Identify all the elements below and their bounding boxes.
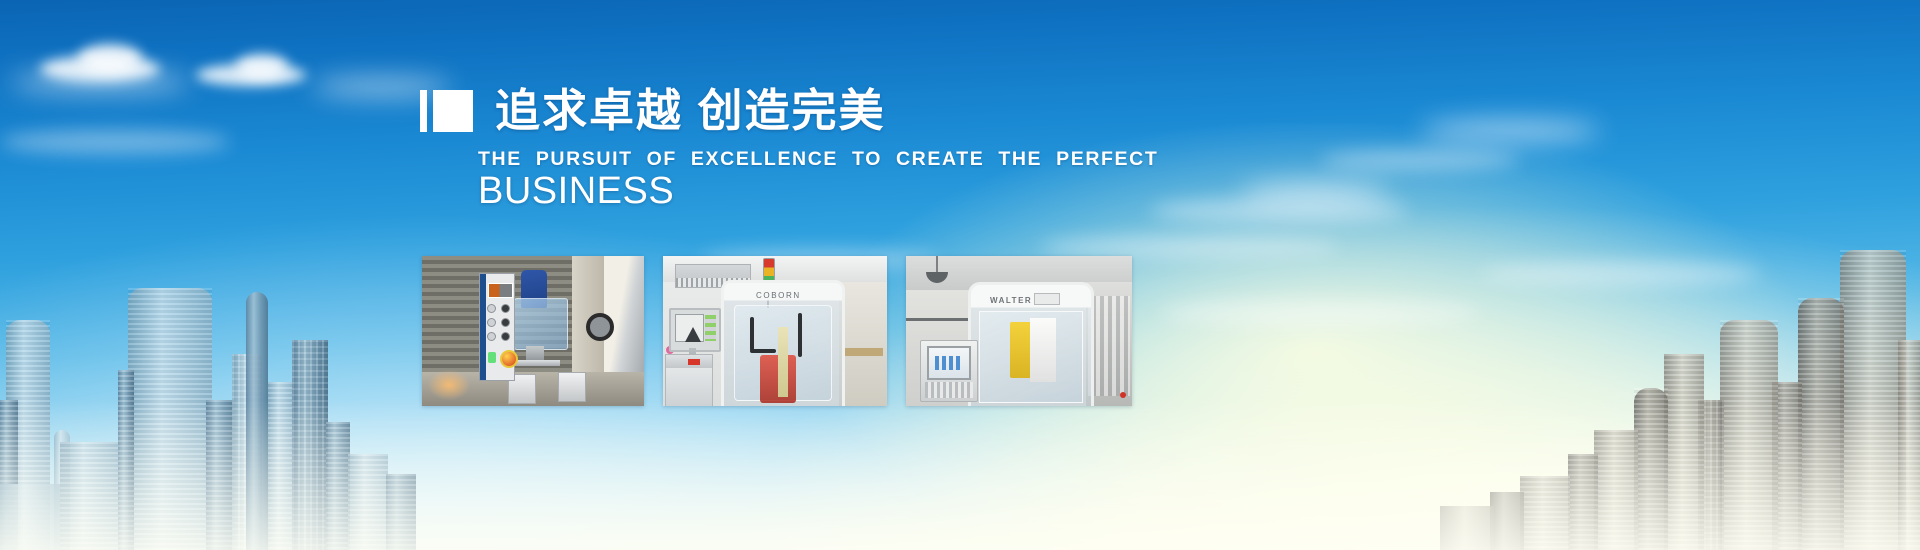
subheadline-english: THE PURSUIT OF EXCELLENCE TO CREATE THE … xyxy=(478,148,1158,171)
hero-banner: 追求卓越 创造完美 THE PURSUIT OF EXCELLENCE TO C… xyxy=(0,0,1920,550)
emergency-stop-button xyxy=(500,350,518,368)
red-indicator xyxy=(1120,392,1126,398)
handwheel-icon xyxy=(586,313,614,341)
warm-light-glow xyxy=(428,370,470,400)
monitor-screen xyxy=(675,314,704,342)
panel-knob xyxy=(487,318,496,327)
wooden-shelf xyxy=(843,348,883,356)
machine-enclosure: COBORN xyxy=(721,280,845,406)
photo-coborn-grinding-machine[interactable]: COBORN xyxy=(663,256,887,406)
triangle-graphic-icon xyxy=(685,327,701,342)
pvc-strip-curtain xyxy=(1088,296,1130,396)
cnc-control-console xyxy=(920,340,978,402)
robot-arm xyxy=(750,317,754,351)
panel-knob xyxy=(501,304,510,313)
machine-brand-label: WALTER xyxy=(990,296,1032,305)
book-mark-logo-icon xyxy=(420,90,473,132)
business-word: BUSINESS xyxy=(478,170,674,213)
panel-knob xyxy=(487,332,496,341)
machine-base-box xyxy=(558,372,586,402)
panel-display xyxy=(488,283,513,298)
white-component xyxy=(1030,318,1056,382)
photo-walter-tool-grinder[interactable]: WALTER xyxy=(906,256,1132,406)
logo-bar-icon xyxy=(420,90,427,132)
machine-photo-strip: COBORN xyxy=(422,256,1132,406)
panel-knob xyxy=(487,304,496,313)
photo-cnc-spindle-machine[interactable] xyxy=(422,256,644,406)
side-cabinet xyxy=(665,354,713,406)
logo-square-icon xyxy=(433,90,473,132)
headline-chinese: 追求卓越 创造完美 xyxy=(495,88,886,133)
banner-content: 追求卓越 创造完美 THE PURSUIT OF EXCELLENCE TO C… xyxy=(0,0,1920,550)
headline-row: 追求卓越 创造完美 xyxy=(420,88,886,133)
robot-arm xyxy=(750,349,776,353)
wall-right xyxy=(839,282,887,406)
enclosure-glass xyxy=(979,311,1083,403)
screen-chart-bars xyxy=(935,356,961,370)
power-indicator xyxy=(488,352,496,363)
wall-pipe xyxy=(906,318,970,321)
yellow-component xyxy=(1010,322,1032,378)
console-keypad xyxy=(925,382,973,398)
panel-knob xyxy=(501,332,510,341)
machine-nameplate xyxy=(1034,293,1060,305)
cabinet-indicator xyxy=(688,359,700,365)
panel-knob xyxy=(501,318,510,327)
monitor-buttons xyxy=(705,315,716,341)
operator-monitor xyxy=(669,308,721,352)
transparent-guard xyxy=(514,298,568,350)
control-panel xyxy=(479,273,515,381)
machine-brand-label: COBORN xyxy=(756,291,801,300)
robot-arm xyxy=(798,313,802,357)
console-screen xyxy=(927,346,971,380)
grinding-spindle xyxy=(778,327,788,397)
